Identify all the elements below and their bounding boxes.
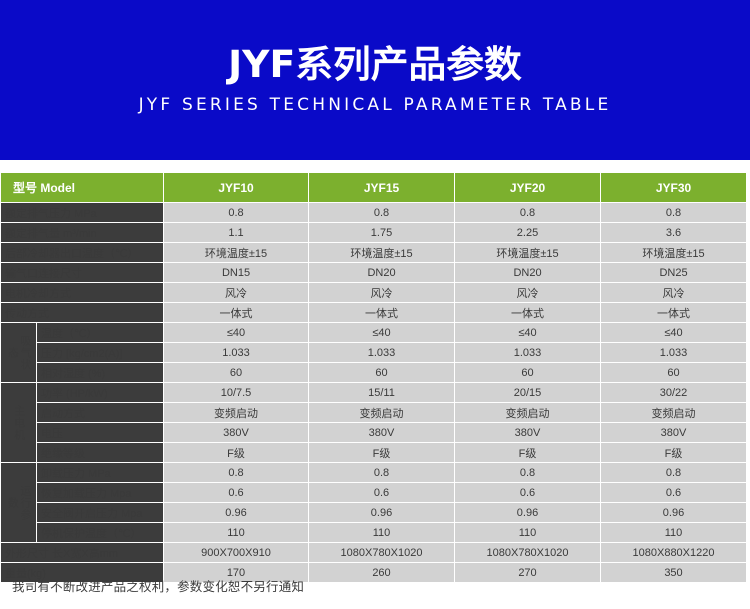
row-value: 0.6 <box>164 483 309 503</box>
row-value: 350 <box>601 563 747 583</box>
row-value: 0.96 <box>455 503 601 523</box>
spec-table-container: 型号 Model JYF10 JYF15 JYF20 JYF30 额定排气压力 … <box>0 172 746 583</box>
row-value: DN25 <box>601 263 747 283</box>
row-value: 1080X780X1020 <box>309 543 455 563</box>
row-value: 变频启动 <box>164 403 309 423</box>
row-value: 380V <box>164 423 309 443</box>
row-value: 30/22 <box>601 383 747 403</box>
row-label: 卸载压力 MPa <box>37 463 164 483</box>
row-label: 后部冷却器出口温度（℃） <box>1 243 164 263</box>
row-value: F级 <box>309 443 455 463</box>
row-value: DN20 <box>309 263 455 283</box>
group-label-operating-params: 运行参数 <box>1 463 37 543</box>
row-value: 环境温度±15 <box>164 243 309 263</box>
row-value: 0.8 <box>455 463 601 483</box>
header-model-jyf30: JYF30 <box>601 173 747 203</box>
row-value: 1.033 <box>309 343 455 363</box>
row-value: 60 <box>601 363 747 383</box>
page-root: JYF系列产品参数 JYF SERIES TECHNICAL PARAMETER… <box>0 0 750 609</box>
row-value: F级 <box>601 443 747 463</box>
row-value: 380V <box>455 423 601 443</box>
row-label: 相对湿度 (%) <box>37 363 164 383</box>
row-value: 0.8 <box>309 203 455 223</box>
row-value: DN15 <box>164 263 309 283</box>
banner-title-cn: JYF系列产品参数 <box>228 45 522 86</box>
row-value: 0.8 <box>601 463 747 483</box>
row-value: 变频启动 <box>309 403 455 423</box>
table-header-row: 型号 Model JYF10 JYF15 JYF20 JYF30 <box>1 173 747 203</box>
row-label: 功率 (HP/kW) <box>37 383 164 403</box>
group-label-wrap: 吸气状态 <box>5 323 32 382</box>
row-value: 1.75 <box>309 223 455 243</box>
row-value: 风冷 <box>601 283 747 303</box>
row-value: 一体式 <box>164 303 309 323</box>
row-value: 一体式 <box>455 303 601 323</box>
table-row: 电机冷却方式 风冷 风冷 风冷 风冷 <box>1 283 747 303</box>
row-value: ≤40 <box>455 323 601 343</box>
row-value: 变频启动 <box>455 403 601 423</box>
row-value: 变频启动 <box>601 403 747 423</box>
table-row: 停机保护温度（℃） 110 110 110 110 <box>1 523 747 543</box>
row-value: 0.96 <box>309 503 455 523</box>
row-value: 3.6 <box>601 223 747 243</box>
table-row: 电压 380V 380V 380V 380V <box>1 423 747 443</box>
row-label: 电机冷却方式 <box>1 283 164 303</box>
row-value: 0.8 <box>164 463 309 483</box>
row-value: 110 <box>455 523 601 543</box>
row-label: 额定排气量 m³/min <box>1 223 164 243</box>
row-value: 风冷 <box>455 283 601 303</box>
row-value: F级 <box>455 443 601 463</box>
group-label-wrap: 运行参数 <box>5 463 32 542</box>
table-row: 额定排气压力 MPa 0.8 0.8 0.8 0.8 <box>1 203 747 223</box>
row-value: F级 <box>164 443 309 463</box>
table-row: 外形尺寸 长X宽X高mm 900X700X910 1080X780X1020 1… <box>1 543 747 563</box>
group-label-intake: 吸气状态 <box>1 323 37 383</box>
row-label: 传动方式 <box>1 303 164 323</box>
row-value: 110 <box>601 523 747 543</box>
row-label: 启动方式 <box>37 403 164 423</box>
table-row: 相对湿度 (%) 60 60 60 60 <box>1 363 747 383</box>
header-model-jyf10: JYF10 <box>164 173 309 203</box>
group-label-text: 主电机 <box>12 405 24 441</box>
row-value: 风冷 <box>309 283 455 303</box>
row-value: 一体式 <box>601 303 747 323</box>
table-row: 额定排气量 m³/min 1.1 1.75 2.25 3.6 <box>1 223 747 243</box>
row-value: 380V <box>309 423 455 443</box>
banner-subtitle-en: JYF SERIES TECHNICAL PARAMETER TABLE <box>139 95 612 115</box>
header-model-jyf15: JYF15 <box>309 173 455 203</box>
row-value: 20/15 <box>455 383 601 403</box>
row-value: 900X700X910 <box>164 543 309 563</box>
row-value: 270 <box>455 563 601 583</box>
row-value: 1.033 <box>164 343 309 363</box>
row-label: 温度（℃） <box>37 323 164 343</box>
page-banner: JYF系列产品参数 JYF SERIES TECHNICAL PARAMETER… <box>0 0 750 160</box>
row-label: 绝缘等级 <box>37 443 164 463</box>
row-label: 外形尺寸 长X宽X高mm <box>1 543 164 563</box>
header-model-label: 型号 Model <box>1 173 164 203</box>
row-value: 0.8 <box>309 463 455 483</box>
row-value: 1.1 <box>164 223 309 243</box>
row-value: 环境温度±15 <box>309 243 455 263</box>
row-value: 0.6 <box>455 483 601 503</box>
row-value: 一体式 <box>309 303 455 323</box>
row-value: ≤40 <box>164 323 309 343</box>
row-value: 1.033 <box>601 343 747 363</box>
row-value: 0.8 <box>601 203 747 223</box>
group-label-text: 运行参数 <box>6 481 31 525</box>
row-value: ≤40 <box>601 323 747 343</box>
table-row: 后部冷却器出口温度（℃） 环境温度±15 环境温度±15 环境温度±15 环境温… <box>1 243 747 263</box>
table-row: 运行参数 卸载压力 MPa 0.8 0.8 0.8 0.8 <box>1 463 747 483</box>
row-value: 0.6 <box>601 483 747 503</box>
row-value: 60 <box>455 363 601 383</box>
row-value: 110 <box>164 523 309 543</box>
row-value: 380V <box>601 423 747 443</box>
row-value: 0.8 <box>455 203 601 223</box>
group-label-wrap: 主电机 <box>5 383 32 462</box>
row-label: 电压 <box>37 423 164 443</box>
table-row: 安全阀开启压力 Mpa 0.96 0.96 0.96 0.96 <box>1 503 747 523</box>
row-value: DN20 <box>455 263 601 283</box>
row-label: 压力 [kg/cm2(A)] <box>37 343 164 363</box>
table-row: 压力 [kg/cm2(A)] 1.033 1.033 1.033 1.033 <box>1 343 747 363</box>
row-value: 环境温度±15 <box>455 243 601 263</box>
row-value: 0.96 <box>601 503 747 523</box>
header-model-jyf20: JYF20 <box>455 173 601 203</box>
spec-table: 型号 Model JYF10 JYF15 JYF20 JYF30 额定排气压力 … <box>0 172 747 583</box>
row-value: 1080X780X1020 <box>455 543 601 563</box>
row-value: 0.6 <box>309 483 455 503</box>
spec-table-body: 型号 Model JYF10 JYF15 JYF20 JYF30 额定排气压力 … <box>1 173 747 583</box>
footer-disclaimer: 我司有不断改进产品之权利，参数变化恕不另行通知 <box>12 576 304 595</box>
row-value: 0.96 <box>164 503 309 523</box>
table-row: 输气口连接尺寸 DN15 DN20 DN20 DN25 <box>1 263 747 283</box>
row-value: 1.033 <box>455 343 601 363</box>
table-row: 传动方式 一体式 一体式 一体式 一体式 <box>1 303 747 323</box>
row-value: 110 <box>309 523 455 543</box>
table-row: 绝缘等级 F级 F级 F级 F级 <box>1 443 747 463</box>
table-row: 启动方式 变频启动 变频启动 变频启动 变频启动 <box>1 403 747 423</box>
row-value: 10/7.5 <box>164 383 309 403</box>
row-value: 1080X880X1220 <box>601 543 747 563</box>
row-value: 2.25 <box>455 223 601 243</box>
row-label: 恢复加载压力 Mpa <box>37 483 164 503</box>
row-label: 输气口连接尺寸 <box>1 263 164 283</box>
table-row: 主电机 功率 (HP/kW) 10/7.5 15/11 20/15 30/22 <box>1 383 747 403</box>
row-value: 环境温度±15 <box>601 243 747 263</box>
table-row: 吸气状态 温度（℃） ≤40 ≤40 ≤40 ≤40 <box>1 323 747 343</box>
row-value: 15/11 <box>309 383 455 403</box>
row-value: 260 <box>309 563 455 583</box>
group-label-text: 吸气状态 <box>6 331 31 375</box>
row-value: 60 <box>309 363 455 383</box>
row-value: 60 <box>164 363 309 383</box>
table-row: 恢复加载压力 Mpa 0.6 0.6 0.6 0.6 <box>1 483 747 503</box>
group-label-main-motor: 主电机 <box>1 383 37 463</box>
row-value: 0.8 <box>164 203 309 223</box>
row-label: 停机保护温度（℃） <box>37 523 164 543</box>
row-label: 额定排气压力 MPa <box>1 203 164 223</box>
row-value: 风冷 <box>164 283 309 303</box>
row-value: ≤40 <box>309 323 455 343</box>
row-label: 安全阀开启压力 Mpa <box>37 503 164 523</box>
